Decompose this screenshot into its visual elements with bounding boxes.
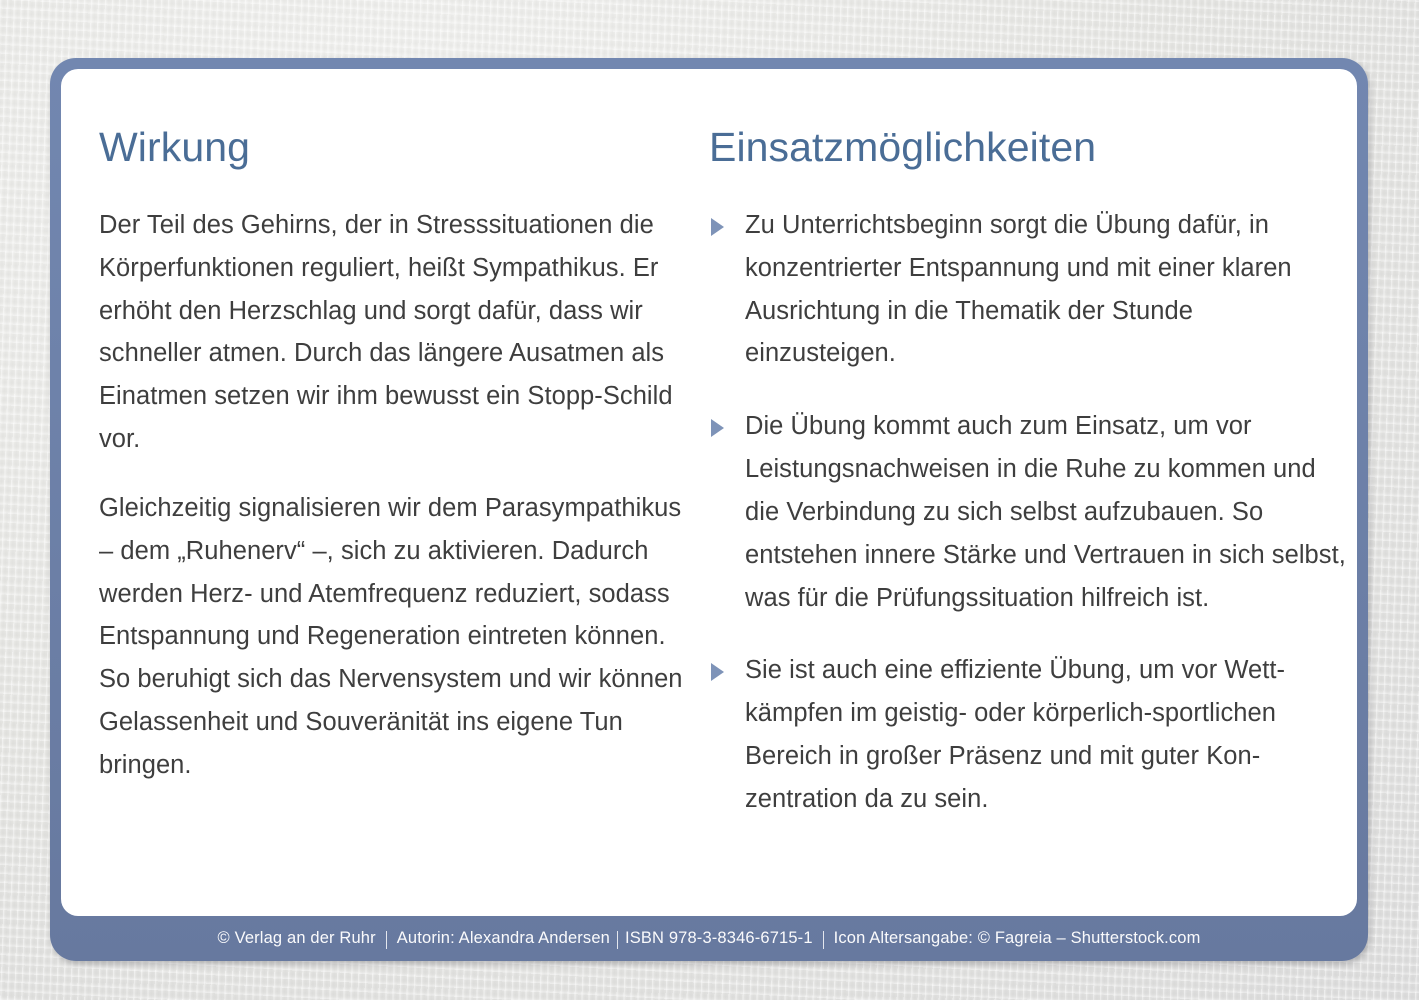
page-title-einsatzmoeglichkeiten: Einsatzmöglichkeiten xyxy=(709,127,1347,168)
footer-separator xyxy=(617,931,618,949)
footer-icon-credit: Icon Altersangabe: © Fagreia – Shutterst… xyxy=(834,929,1201,948)
paragraph-wirkung-2: Gleichzeitig signalisieren wir dem Paras… xyxy=(99,487,691,787)
list-item-text: Zu Unterrichtsbeginn sorgt die Übung daf… xyxy=(745,211,1292,367)
footer-bar: © Verlag an der Ruhr Autorin: Alexandra … xyxy=(50,916,1368,961)
list-item-text: Sie ist auch eine effiziente Übung, um v… xyxy=(745,656,1285,812)
slide-content: Wirkung Der Teil des Gehirns, der in Str… xyxy=(61,69,1357,916)
page-title-wirkung: Wirkung xyxy=(99,127,691,168)
list-item: Die Übung kommt auch zum Einsatz, um vor… xyxy=(709,405,1347,619)
list-item: Zu Unterrichtsbeginn sorgt die Übung daf… xyxy=(709,204,1347,375)
list-item-text: Die Übung kommt auch zum Einsatz, um vor… xyxy=(745,412,1346,611)
column-wirkung: Wirkung Der Teil des Gehirns, der in Str… xyxy=(61,127,701,916)
footer-isbn: ISBN 978-3-8346-6715-1 xyxy=(625,929,813,948)
triangle-right-icon xyxy=(711,419,724,437)
triangle-right-icon xyxy=(711,663,724,681)
paragraph-wirkung-1: Der Teil des Gehirns, der in Stresssitua… xyxy=(99,204,691,461)
footer-author: Autorin: Alexandra Andersen xyxy=(397,929,610,948)
bullet-list: Zu Unterrichtsbeginn sorgt die Übung daf… xyxy=(709,204,1347,821)
slide-card-inner: Wirkung Der Teil des Gehirns, der in Str… xyxy=(61,69,1357,916)
triangle-right-icon xyxy=(711,218,724,236)
footer-separator xyxy=(386,931,387,949)
footer-publisher: © Verlag an der Ruhr xyxy=(218,929,376,948)
footer-credits: © Verlag an der Ruhr Autorin: Alexandra … xyxy=(218,929,1201,948)
footer-separator xyxy=(823,931,824,949)
column-einsatzmoeglichkeiten: Einsatzmöglichkeiten Zu Unterrichtsbegin… xyxy=(701,127,1357,916)
list-item: Sie ist auch eine effiziente Übung, um v… xyxy=(709,649,1347,820)
slide-card: Wirkung Der Teil des Gehirns, der in Str… xyxy=(50,58,1368,961)
